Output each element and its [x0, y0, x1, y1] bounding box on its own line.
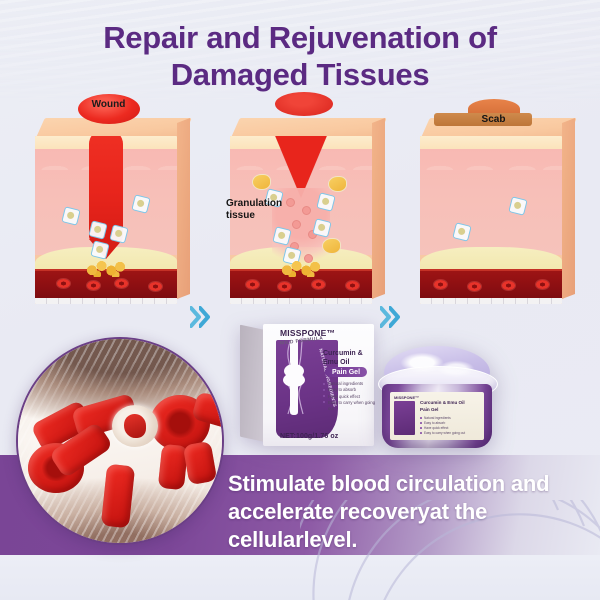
- jar-category-text: Pain Gel: [420, 407, 478, 414]
- fibroblast-cell: [328, 176, 347, 192]
- product-box-front-panel: MISSPONE™ MILD FORMULA NATURAL INGREDIEN…: [263, 324, 374, 446]
- wound-opening: [275, 92, 333, 116]
- jar-brand-name: MISSPONE™: [394, 395, 419, 400]
- granulation-dot: [286, 198, 295, 207]
- benefit-line-3: cellularlevel.: [228, 526, 580, 554]
- title-line-1: Repair and Rejuvenation of: [103, 20, 497, 55]
- skin-block-side: [177, 118, 190, 299]
- product-box: MISSPONE™ MILD FORMULA NATURAL INGREDIEN…: [240, 324, 374, 448]
- label-wound: Wound: [92, 99, 126, 110]
- blood-circulation-image: [16, 337, 224, 545]
- granulation-dot: [292, 220, 301, 229]
- box-feature-item: Easy to carry when going out: [323, 400, 377, 413]
- label-granulation-tissue: Granulation tissue: [226, 198, 282, 221]
- red-blood-cell: [57, 279, 70, 288]
- jar-product-name-text: Curcumin & Emu Oil: [420, 400, 478, 407]
- red-blood-cell: [246, 280, 259, 289]
- red-blood-cell: [346, 281, 359, 290]
- double-chevron-right-icon: [199, 306, 210, 328]
- red-blood-cell: [149, 282, 162, 291]
- platelet-clot: [84, 260, 128, 277]
- progress-arrow-2: [380, 306, 406, 330]
- jar-label: MISSPONE™ Curcumin & Emu Oil Pain Gel Na…: [390, 392, 484, 440]
- label-granulation-line-1: Granulation: [226, 198, 282, 210]
- product-jar: MISSPONE™ Curcumin & Emu Oil Pain Gel Na…: [374, 340, 500, 454]
- red-blood-cell: [312, 280, 325, 289]
- scale-ruler: [35, 298, 177, 304]
- blood-vessel-layer: [420, 269, 562, 298]
- red-blood-cell: [278, 282, 291, 291]
- diagram-panel-wound: Wound: [27, 110, 190, 310]
- benefit-line-1: Stimulate blood circulation and: [228, 470, 580, 498]
- skin-block-side: [562, 118, 575, 299]
- red-blood-cell: [87, 281, 100, 290]
- label-granulation-line-2: tissue: [226, 210, 282, 222]
- marketing-image: Repair and Rejuvenation of Damaged Tissu…: [0, 0, 600, 600]
- wound-healing-diagram: Wound: [0, 110, 600, 315]
- jar-feature-list: Natural ingredients Easy to absorb Have …: [420, 416, 480, 436]
- jar-product-name: Curcumin & Emu Oil Pain Gel: [420, 400, 478, 413]
- skin-cross-section: [420, 136, 562, 304]
- jar-knee-graphic: [394, 401, 415, 435]
- skin-block-side: [372, 118, 385, 299]
- platelet-clot: [279, 260, 323, 277]
- dermis-layer: [420, 149, 562, 255]
- progress-arrow-1: [190, 306, 216, 330]
- scale-ruler: [230, 298, 372, 304]
- red-blood-cell: [434, 280, 447, 289]
- box-net-weight: NET:100g/1.76 oz: [280, 433, 338, 440]
- diagram-panel-granulation: Granulation tissue: [222, 110, 385, 310]
- dermis-wave: [420, 160, 562, 170]
- epidermis-layer: [420, 136, 562, 149]
- page-title: Repair and Rejuvenation of Damaged Tissu…: [0, 20, 600, 93]
- benefit-text: Stimulate blood circulation and accelera…: [228, 470, 580, 554]
- skin-cross-section: [35, 136, 177, 304]
- granulation-dot: [302, 206, 311, 215]
- jar-feature-item: Easy to carry when going out: [420, 431, 480, 436]
- fibroblast-cell: [252, 174, 271, 190]
- benefit-line-2: accelerate recoveryat the: [228, 498, 580, 526]
- product-box-side-panel: [240, 325, 265, 442]
- red-blood-cell: [502, 281, 515, 290]
- platelet-cell: [112, 405, 158, 447]
- fibroblast-cell: [322, 238, 341, 254]
- label-scab: Scab: [482, 114, 506, 125]
- double-chevron-right-icon: [389, 306, 400, 328]
- box-category-badge: Pain Gel: [325, 367, 367, 377]
- red-blood-cell: [115, 279, 128, 288]
- scale-ruler: [420, 298, 562, 304]
- box-product-name: Curcumin & Emu Oil: [323, 350, 375, 368]
- title-line-2: Damaged Tissues: [0, 57, 600, 94]
- box-feature-list: Natural ingredients Easy to absorb Have …: [323, 381, 377, 412]
- red-blood-cell: [536, 280, 549, 289]
- diagram-panel-scab: Scab: [412, 110, 575, 310]
- red-blood-cell: [468, 282, 481, 291]
